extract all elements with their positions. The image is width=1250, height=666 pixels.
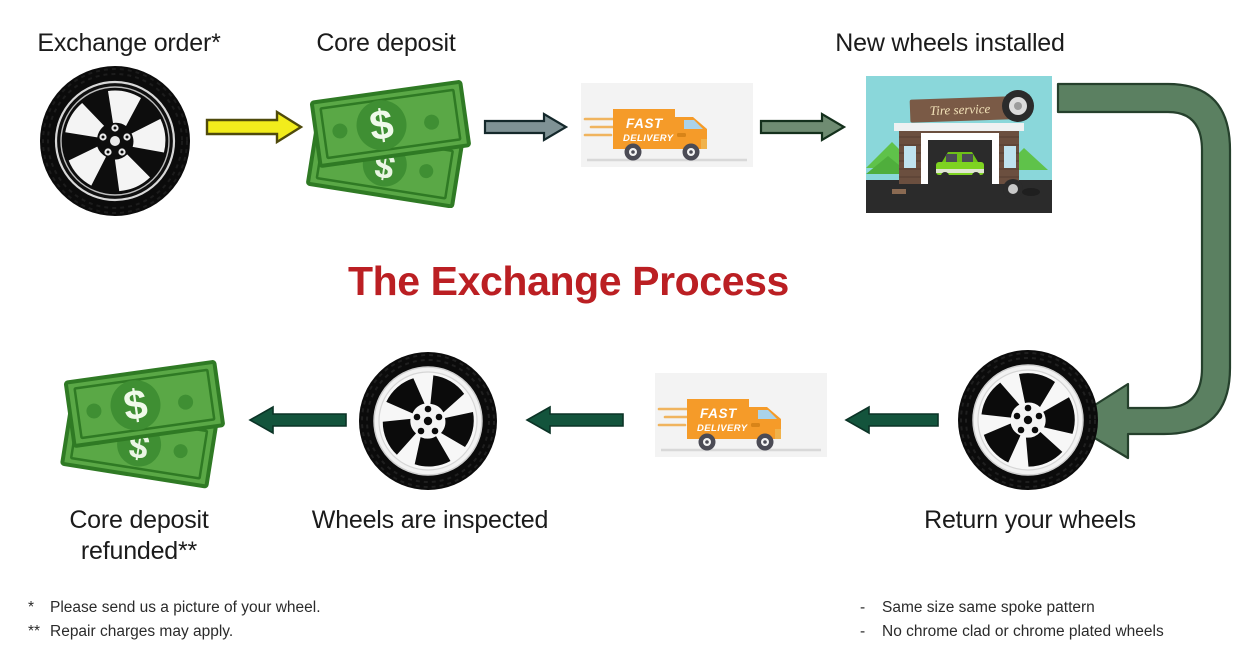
arrow-order-to-deposit [205,110,303,144]
refund-label-line2: refunded** [30,536,248,567]
svg-text:FAST: FAST [626,116,664,131]
wheel-silver-icon-inspected [356,352,500,490]
page-title: The Exchange Process [348,258,789,305]
arrow-shipment-to-install [760,111,846,143]
footnote-right-1-text: Same size same spoke pattern [882,599,1095,616]
footnote-right-2-text: No chrome clad or chrome plated wheels [882,623,1164,640]
step-label-new-wheels-installed: New wheels installed [800,28,1100,59]
footnote-left-1: *Please send us a picture of your wheel. [28,595,321,620]
footnote-left-2: **Repair charges may apply. [28,619,233,644]
step-label-core-deposit-refunded: Core deposit refunded** [30,505,248,566]
step-label-wheels-inspected: Wheels are inspected [300,505,560,536]
money-icon: $ $ [300,68,480,208]
footnote-left-2-text: Repair charges may apply. [50,623,233,640]
footnote-right-1-mark: - [860,595,882,620]
svg-text:Tire service: Tire service [930,101,991,118]
footnote-right-2-mark: - [860,619,882,644]
footnote-right-2: -No chrome clad or chrome plated wheels [860,619,1164,644]
footnote-left-2-mark: ** [28,619,50,644]
arrow-return-to-shipment [843,404,939,436]
svg-text:FAST: FAST [700,406,738,421]
refund-label-line1: Core deposit [30,505,248,536]
wheel-silver-icon-return [955,350,1101,490]
footnote-left-1-text: Please send us a picture of your wheel. [50,599,321,616]
step-label-return-your-wheels: Return your wheels [880,505,1180,536]
tire-service-shop-icon: Tire service [866,76,1052,213]
arrow-deposit-to-shipment [484,111,568,143]
money-icon-refund: $ $ [52,350,236,490]
svg-text:DELIVERY: DELIVERY [623,133,675,144]
arrow-shipment-to-inspect [524,404,624,436]
svg-text:DELIVERY: DELIVERY [697,423,749,434]
step-label-core-deposit: Core deposit [282,28,490,59]
footnote-right-1: -Same size same spoke pattern [860,595,1095,620]
arrow-inspect-to-refund [247,404,347,436]
footnote-left-1-mark: * [28,595,50,620]
exchange-process-diagram: Exchange order* [0,0,1250,666]
step-label-exchange-order: Exchange order* [0,28,258,59]
delivery-truck-icon-return: FAST DELIVERY [655,373,827,457]
delivery-truck-icon-outbound: FAST DELIVERY [581,83,753,167]
wheel-dark-icon [36,66,194,216]
